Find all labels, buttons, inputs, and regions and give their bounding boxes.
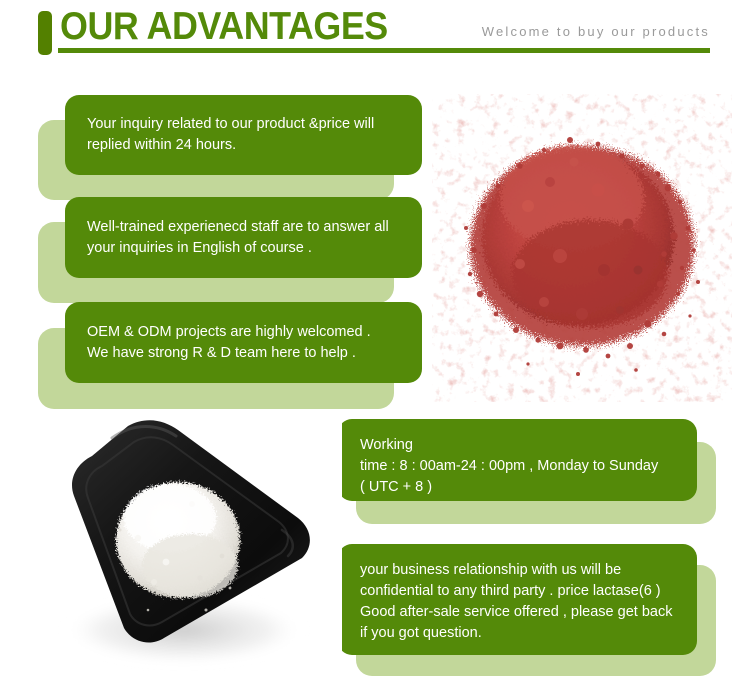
header-tagline: Welcome to buy our products — [482, 24, 710, 39]
callout-panel: Working time : 8 : 00am-24 : 00pm , Mond… — [338, 419, 697, 501]
red-powder-product-image — [432, 78, 732, 408]
callout-text: Well-trained experienecd staff are to an… — [87, 217, 406, 259]
working-time-callout: Working time : 8 : 00am-24 : 00pm , Mond… — [338, 419, 716, 524]
page-title: OUR ADVANTAGES — [60, 6, 388, 48]
header-divider — [58, 48, 710, 53]
callout-panel: Your inquiry related to our product &pri… — [65, 95, 422, 175]
callout-text: Your inquiry related to our product &pri… — [87, 114, 406, 156]
advantage-callout-3: OEM & ODM projects are highly welcomed .… — [38, 302, 422, 409]
callout-text: Working time : 8 : 00am-24 : 00pm , Mond… — [360, 435, 681, 498]
page-header: OUR ADVANTAGES Welcome to buy our produc… — [0, 0, 750, 62]
white-powder-product-image — [42, 412, 342, 680]
callout-text: OEM & ODM projects are highly welcomed .… — [87, 322, 406, 364]
advantage-callout-1: Your inquiry related to our product &pri… — [38, 95, 422, 200]
callout-panel: OEM & ODM projects are highly welcomed .… — [65, 302, 422, 383]
callout-panel: your business relationship with us will … — [338, 544, 697, 655]
accent-bar-icon — [38, 11, 52, 55]
advantage-callout-2: Well-trained experienecd staff are to an… — [38, 197, 422, 303]
callout-text: your business relationship with us will … — [360, 560, 681, 644]
callout-panel: Well-trained experienecd staff are to an… — [65, 197, 422, 278]
confidentiality-callout: your business relationship with us will … — [338, 544, 716, 676]
